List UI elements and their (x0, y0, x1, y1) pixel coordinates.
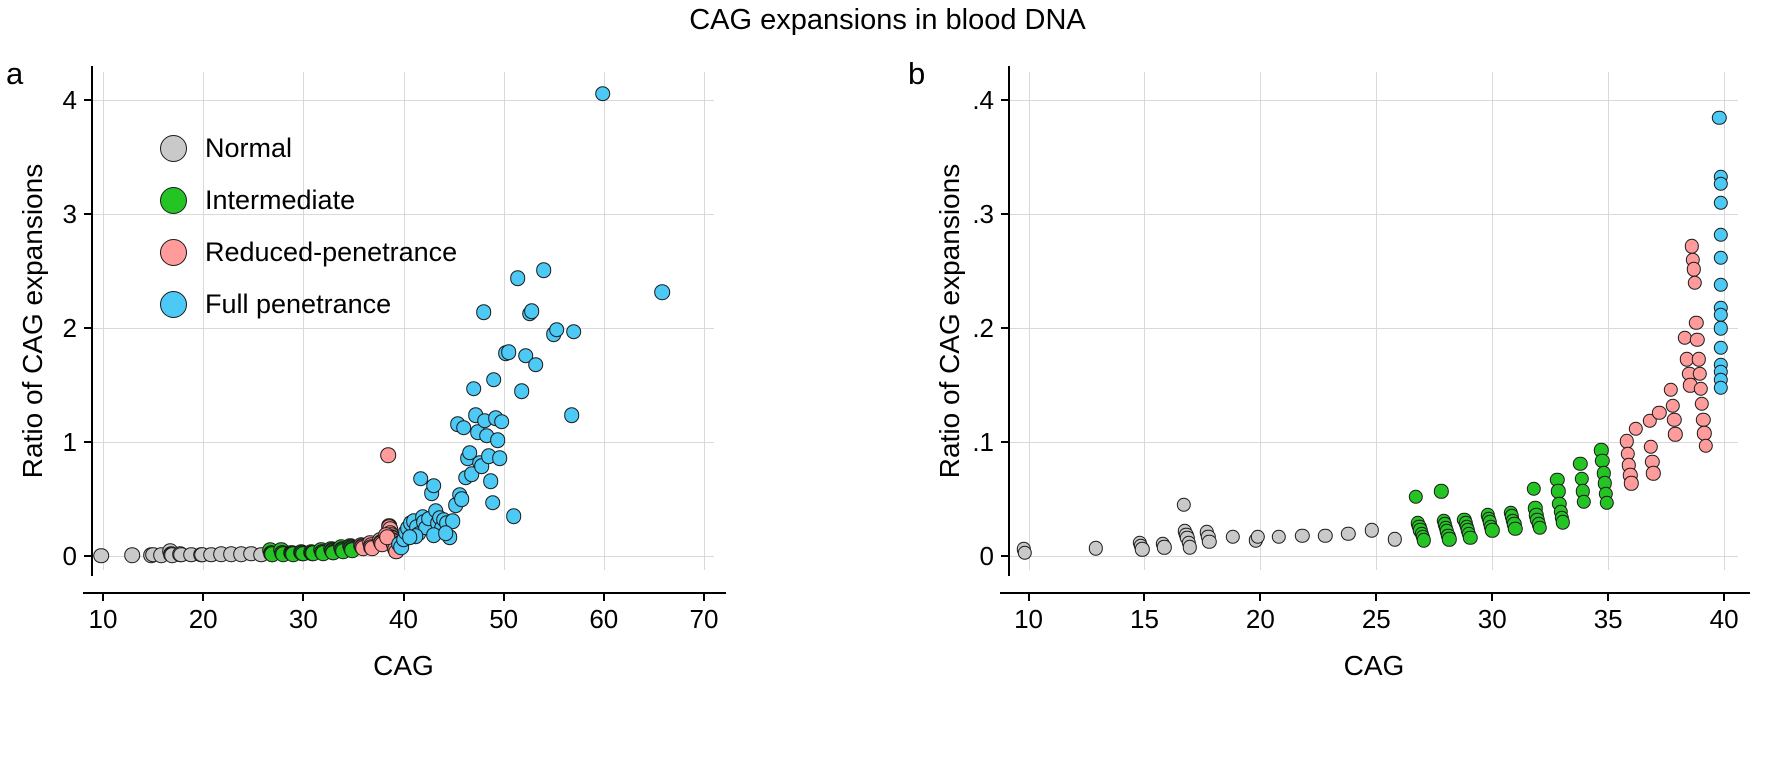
data-point (1666, 399, 1680, 413)
legend-item[interactable]: Normal (160, 128, 292, 168)
data-point (1485, 523, 1499, 537)
data-point (1629, 421, 1643, 435)
gridline-vertical (1492, 72, 1493, 570)
y-axis-tick (84, 213, 91, 215)
legend-marker-icon (160, 135, 187, 162)
data-point (1688, 276, 1702, 290)
data-point (528, 357, 544, 373)
data-point (1713, 176, 1727, 190)
data-point (654, 284, 670, 300)
data-point (1695, 396, 1709, 410)
data-point (1667, 412, 1681, 426)
data-point (93, 548, 109, 564)
legend-marker-icon (160, 187, 187, 214)
data-point (1690, 333, 1704, 347)
x-axis-tick-label: 20 (1246, 606, 1275, 632)
data-point (483, 473, 499, 489)
data-point (1713, 308, 1727, 322)
y-axis-tick (84, 327, 91, 329)
data-point (438, 525, 454, 541)
data-point (454, 492, 470, 508)
y-axis-tick (84, 441, 91, 443)
data-point (1463, 531, 1477, 545)
data-point (1644, 440, 1658, 454)
x-axis-line (83, 592, 726, 594)
gridline-horizontal (1010, 328, 1738, 329)
gridline-vertical (704, 72, 705, 570)
data-point (1018, 546, 1032, 560)
x-axis-tick-label: 25 (1362, 606, 1391, 632)
data-point (381, 448, 397, 464)
legend-item[interactable]: Full penetrance (160, 284, 391, 324)
data-point (490, 432, 506, 448)
data-point (1508, 522, 1522, 536)
x-axis-tick (202, 594, 204, 601)
data-point (1157, 540, 1171, 554)
data-point (1646, 466, 1660, 480)
data-point (1573, 457, 1587, 471)
gridline-vertical (103, 72, 104, 570)
data-point (1664, 383, 1678, 397)
x-axis-tick-label: 35 (1594, 606, 1623, 632)
data-point (1442, 532, 1456, 546)
legend: NormalIntermediateReduced-penetranceFull… (160, 128, 560, 328)
x-axis-tick-label: 15 (1130, 606, 1159, 632)
gridline-vertical (1260, 72, 1261, 570)
x-axis-tick (102, 594, 104, 601)
gridline-horizontal (1010, 100, 1738, 101)
panel-b-plot-area (1010, 72, 1738, 570)
gridline-horizontal (1010, 214, 1738, 215)
x-axis-tick-label: 60 (589, 606, 618, 632)
data-point (485, 495, 501, 511)
data-point (402, 529, 418, 545)
data-point (1696, 412, 1710, 426)
y-axis-tick (1001, 441, 1008, 443)
data-point (492, 451, 508, 467)
data-point (1668, 427, 1682, 441)
x-axis-tick-label: 40 (389, 606, 418, 632)
data-point (1251, 530, 1265, 544)
y-axis-tick (84, 555, 91, 557)
data-point (1691, 352, 1705, 366)
y-axis-tick-label: 0 (7, 543, 77, 569)
x-axis-tick-label: 30 (289, 606, 318, 632)
gridline-vertical (1376, 72, 1377, 570)
x-axis-tick-label: 40 (1710, 606, 1739, 632)
x-axis-tick (1723, 594, 1725, 601)
data-point (1409, 490, 1423, 504)
x-axis-tick-label: 50 (489, 606, 518, 632)
data-point (1135, 542, 1149, 556)
data-point (1295, 529, 1309, 543)
data-point (1624, 476, 1638, 490)
x-axis-tick (1375, 594, 1377, 601)
data-point (1089, 541, 1103, 555)
data-point (1417, 533, 1431, 547)
data-point (1684, 239, 1698, 253)
panel-b-label: b (908, 58, 925, 89)
data-point (1272, 530, 1286, 544)
data-point (1713, 228, 1727, 242)
panel-a-label: a (6, 58, 23, 89)
legend-item-label: Intermediate (205, 185, 355, 216)
data-point (1713, 380, 1727, 394)
y-axis-tick-label: .4 (924, 87, 994, 113)
data-point (494, 414, 510, 430)
x-axis-tick-label: 70 (690, 606, 719, 632)
x-axis-tick-label: 10 (1014, 606, 1043, 632)
x-axis-tick (1607, 594, 1609, 601)
y-axis-title: Ratio of CAG expansions (17, 164, 49, 478)
legend-item-label: Full penetrance (205, 289, 391, 320)
x-axis-tick-label: 30 (1478, 606, 1507, 632)
data-point (1687, 262, 1701, 276)
data-point (506, 509, 522, 525)
data-point (1225, 530, 1239, 544)
data-point (514, 383, 530, 399)
legend-marker-icon (160, 291, 187, 318)
data-point (1577, 494, 1591, 508)
data-point (564, 407, 580, 423)
x-axis-tick (703, 594, 705, 601)
y-axis-tick (1001, 99, 1008, 101)
y-axis-line (1008, 66, 1010, 576)
x-axis-title: CAG (1344, 650, 1405, 682)
y-axis-tick (1001, 213, 1008, 215)
data-point (595, 86, 611, 102)
data-point (1713, 278, 1727, 292)
data-point (1182, 540, 1196, 554)
data-point (1556, 515, 1570, 529)
data-point (1177, 498, 1191, 512)
x-axis-tick (1143, 594, 1145, 601)
data-point (1694, 382, 1708, 396)
figure-root: CAG expansions in blood DNA a NormalInte… (0, 0, 1775, 774)
x-axis-tick (1259, 594, 1261, 601)
data-point (1600, 496, 1614, 510)
panel-a: a NormalIntermediateReduced-penetranceFu… (0, 0, 800, 774)
gridline-vertical (1724, 72, 1725, 570)
gridline-vertical (604, 72, 605, 570)
x-axis-tick (1491, 594, 1493, 601)
x-axis-tick (603, 594, 605, 601)
x-axis-tick (1028, 594, 1030, 601)
data-point (1318, 529, 1332, 543)
data-point (1388, 532, 1402, 546)
y-axis-tick (1001, 555, 1008, 557)
y-axis-title: Ratio of CAG expansions (934, 164, 966, 478)
panel-b: b 0.1.2.3.410152025303540CAGRatio of CAG… (800, 0, 1775, 774)
x-axis-tick-label: 10 (89, 606, 118, 632)
data-point (1527, 482, 1541, 496)
data-point (1652, 406, 1666, 420)
data-point (1693, 367, 1707, 381)
y-axis-line (91, 66, 93, 576)
data-point (1341, 526, 1355, 540)
legend-item-label: Reduced-penetrance (205, 237, 457, 268)
data-point (466, 381, 482, 397)
data-point (486, 372, 502, 388)
data-point (1713, 321, 1727, 335)
data-point (426, 478, 442, 494)
y-axis-tick (84, 99, 91, 101)
x-axis-tick (503, 594, 505, 601)
y-axis-tick-label: 0 (924, 543, 994, 569)
gridline-vertical (1144, 72, 1145, 570)
legend-item[interactable]: Intermediate (160, 180, 355, 220)
x-axis-tick-label: 20 (189, 606, 218, 632)
data-point (124, 548, 140, 564)
legend-marker-icon (160, 239, 187, 266)
legend-item[interactable]: Reduced-penetrance (160, 232, 457, 272)
data-point (1713, 251, 1727, 265)
x-axis-tick (403, 594, 405, 601)
data-point (1533, 521, 1547, 535)
legend-item-label: Normal (205, 133, 292, 164)
x-axis-tick (302, 594, 304, 601)
gridline-vertical (1029, 72, 1030, 570)
y-axis-tick-label: 4 (7, 87, 77, 113)
data-point (501, 345, 517, 361)
x-axis-title: CAG (373, 650, 434, 682)
data-point (1202, 534, 1216, 548)
data-point (1713, 341, 1727, 355)
data-point (1698, 439, 1712, 453)
y-axis-tick (1001, 327, 1008, 329)
data-point (1713, 196, 1727, 210)
data-point (1434, 484, 1448, 498)
data-point (566, 324, 582, 340)
gridline-horizontal (1010, 556, 1738, 557)
